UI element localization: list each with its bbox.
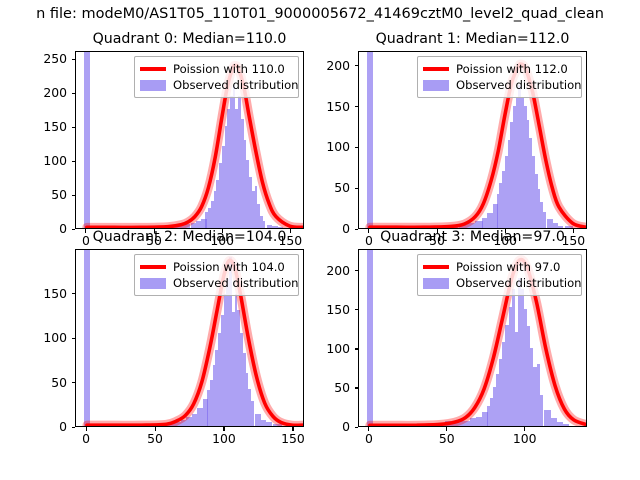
y-tick-mark: [355, 387, 359, 388]
y-tick-label: 50: [0, 182, 350, 194]
y-tick-mark: [355, 427, 359, 428]
x-tick-label: 0: [82, 433, 90, 445]
x-tick-mark: [524, 427, 525, 431]
legend-quadrant-1[interactable]: Poission with 112.0Observed distribution: [417, 56, 582, 98]
legend-entry-poisson: Poission with 112.0: [423, 61, 575, 77]
y-tick-mark: [355, 309, 359, 310]
y-tick-label: 150: [0, 304, 350, 316]
legend-entry-observed: Observed distribution: [423, 275, 575, 291]
y-tick-label: 150: [0, 121, 67, 133]
y-tick-mark: [355, 106, 359, 107]
figure-suptitle: n file: modeM0/AS1T05_110T01_9000005672_…: [36, 5, 604, 23]
x-tick-label: 0: [365, 433, 373, 445]
patch-swatch-icon: [423, 278, 449, 289]
y-tick-label: 200: [0, 60, 350, 72]
y-tick-mark: [72, 195, 76, 196]
x-tick-label: 50: [439, 433, 455, 445]
y-tick-label: 100: [0, 343, 350, 355]
x-tick-label: 150: [281, 433, 305, 445]
legend-label-observed: Observed distribution: [173, 276, 299, 291]
legend-entry-observed: Observed distribution: [140, 275, 292, 291]
y-tick-label: 50: [0, 382, 350, 394]
legend-label-observed: Observed distribution: [173, 78, 299, 93]
legend-label-poisson: Poission with 112.0: [456, 62, 568, 77]
y-tick-label: 200: [0, 265, 350, 277]
patch-swatch-icon: [140, 80, 166, 91]
y-tick-mark: [355, 348, 359, 349]
x-tick-label: 100: [513, 433, 537, 445]
subplot-title-quadrant-0: Quadrant 0: Median=110.0: [45, 31, 334, 47]
subplot-title-quadrant-3: Quadrant 3: Median=97.0: [328, 229, 617, 245]
line-swatch-icon: [423, 67, 449, 71]
y-tick-mark: [355, 270, 359, 271]
x-tick-mark: [368, 427, 369, 431]
y-tick-mark: [72, 293, 76, 294]
x-tick-label: 50: [147, 433, 163, 445]
legend-entry-poisson: Poission with 97.0: [423, 259, 575, 275]
y-tick-mark: [72, 127, 76, 128]
y-tick-label: 150: [0, 288, 67, 300]
legend-quadrant-3[interactable]: Poission with 97.0Observed distribution: [417, 254, 582, 296]
legend-label-poisson: Poission with 97.0: [456, 260, 560, 275]
y-tick-mark: [72, 338, 76, 339]
y-tick-label: 200: [0, 87, 67, 99]
subplot-title-quadrant-2: Quadrant 2: Median=104.0: [45, 229, 334, 245]
y-tick-label: 0: [0, 421, 350, 433]
patch-swatch-icon: [423, 80, 449, 91]
legend-entry-observed: Observed distribution: [423, 77, 575, 93]
x-tick-mark: [446, 427, 447, 431]
figure-canvas: n file: modeM0/AS1T05_110T01_9000005672_…: [0, 0, 640, 480]
subplot-title-quadrant-1: Quadrant 1: Median=112.0: [328, 31, 617, 47]
y-tick-mark: [72, 161, 76, 162]
y-tick-mark: [72, 93, 76, 94]
x-tick-label: 100: [212, 433, 236, 445]
y-tick-mark: [355, 65, 359, 66]
patch-swatch-icon: [140, 278, 166, 289]
line-swatch-icon: [423, 265, 449, 269]
y-tick-mark: [355, 147, 359, 148]
y-tick-label: 100: [0, 155, 67, 167]
y-tick-label: 150: [0, 101, 350, 113]
y-tick-mark: [355, 188, 359, 189]
legend-label-observed: Observed distribution: [456, 78, 582, 93]
legend-label-observed: Observed distribution: [456, 276, 582, 291]
y-tick-label: 100: [0, 141, 350, 153]
legend-entry-observed: Observed distribution: [140, 77, 292, 93]
